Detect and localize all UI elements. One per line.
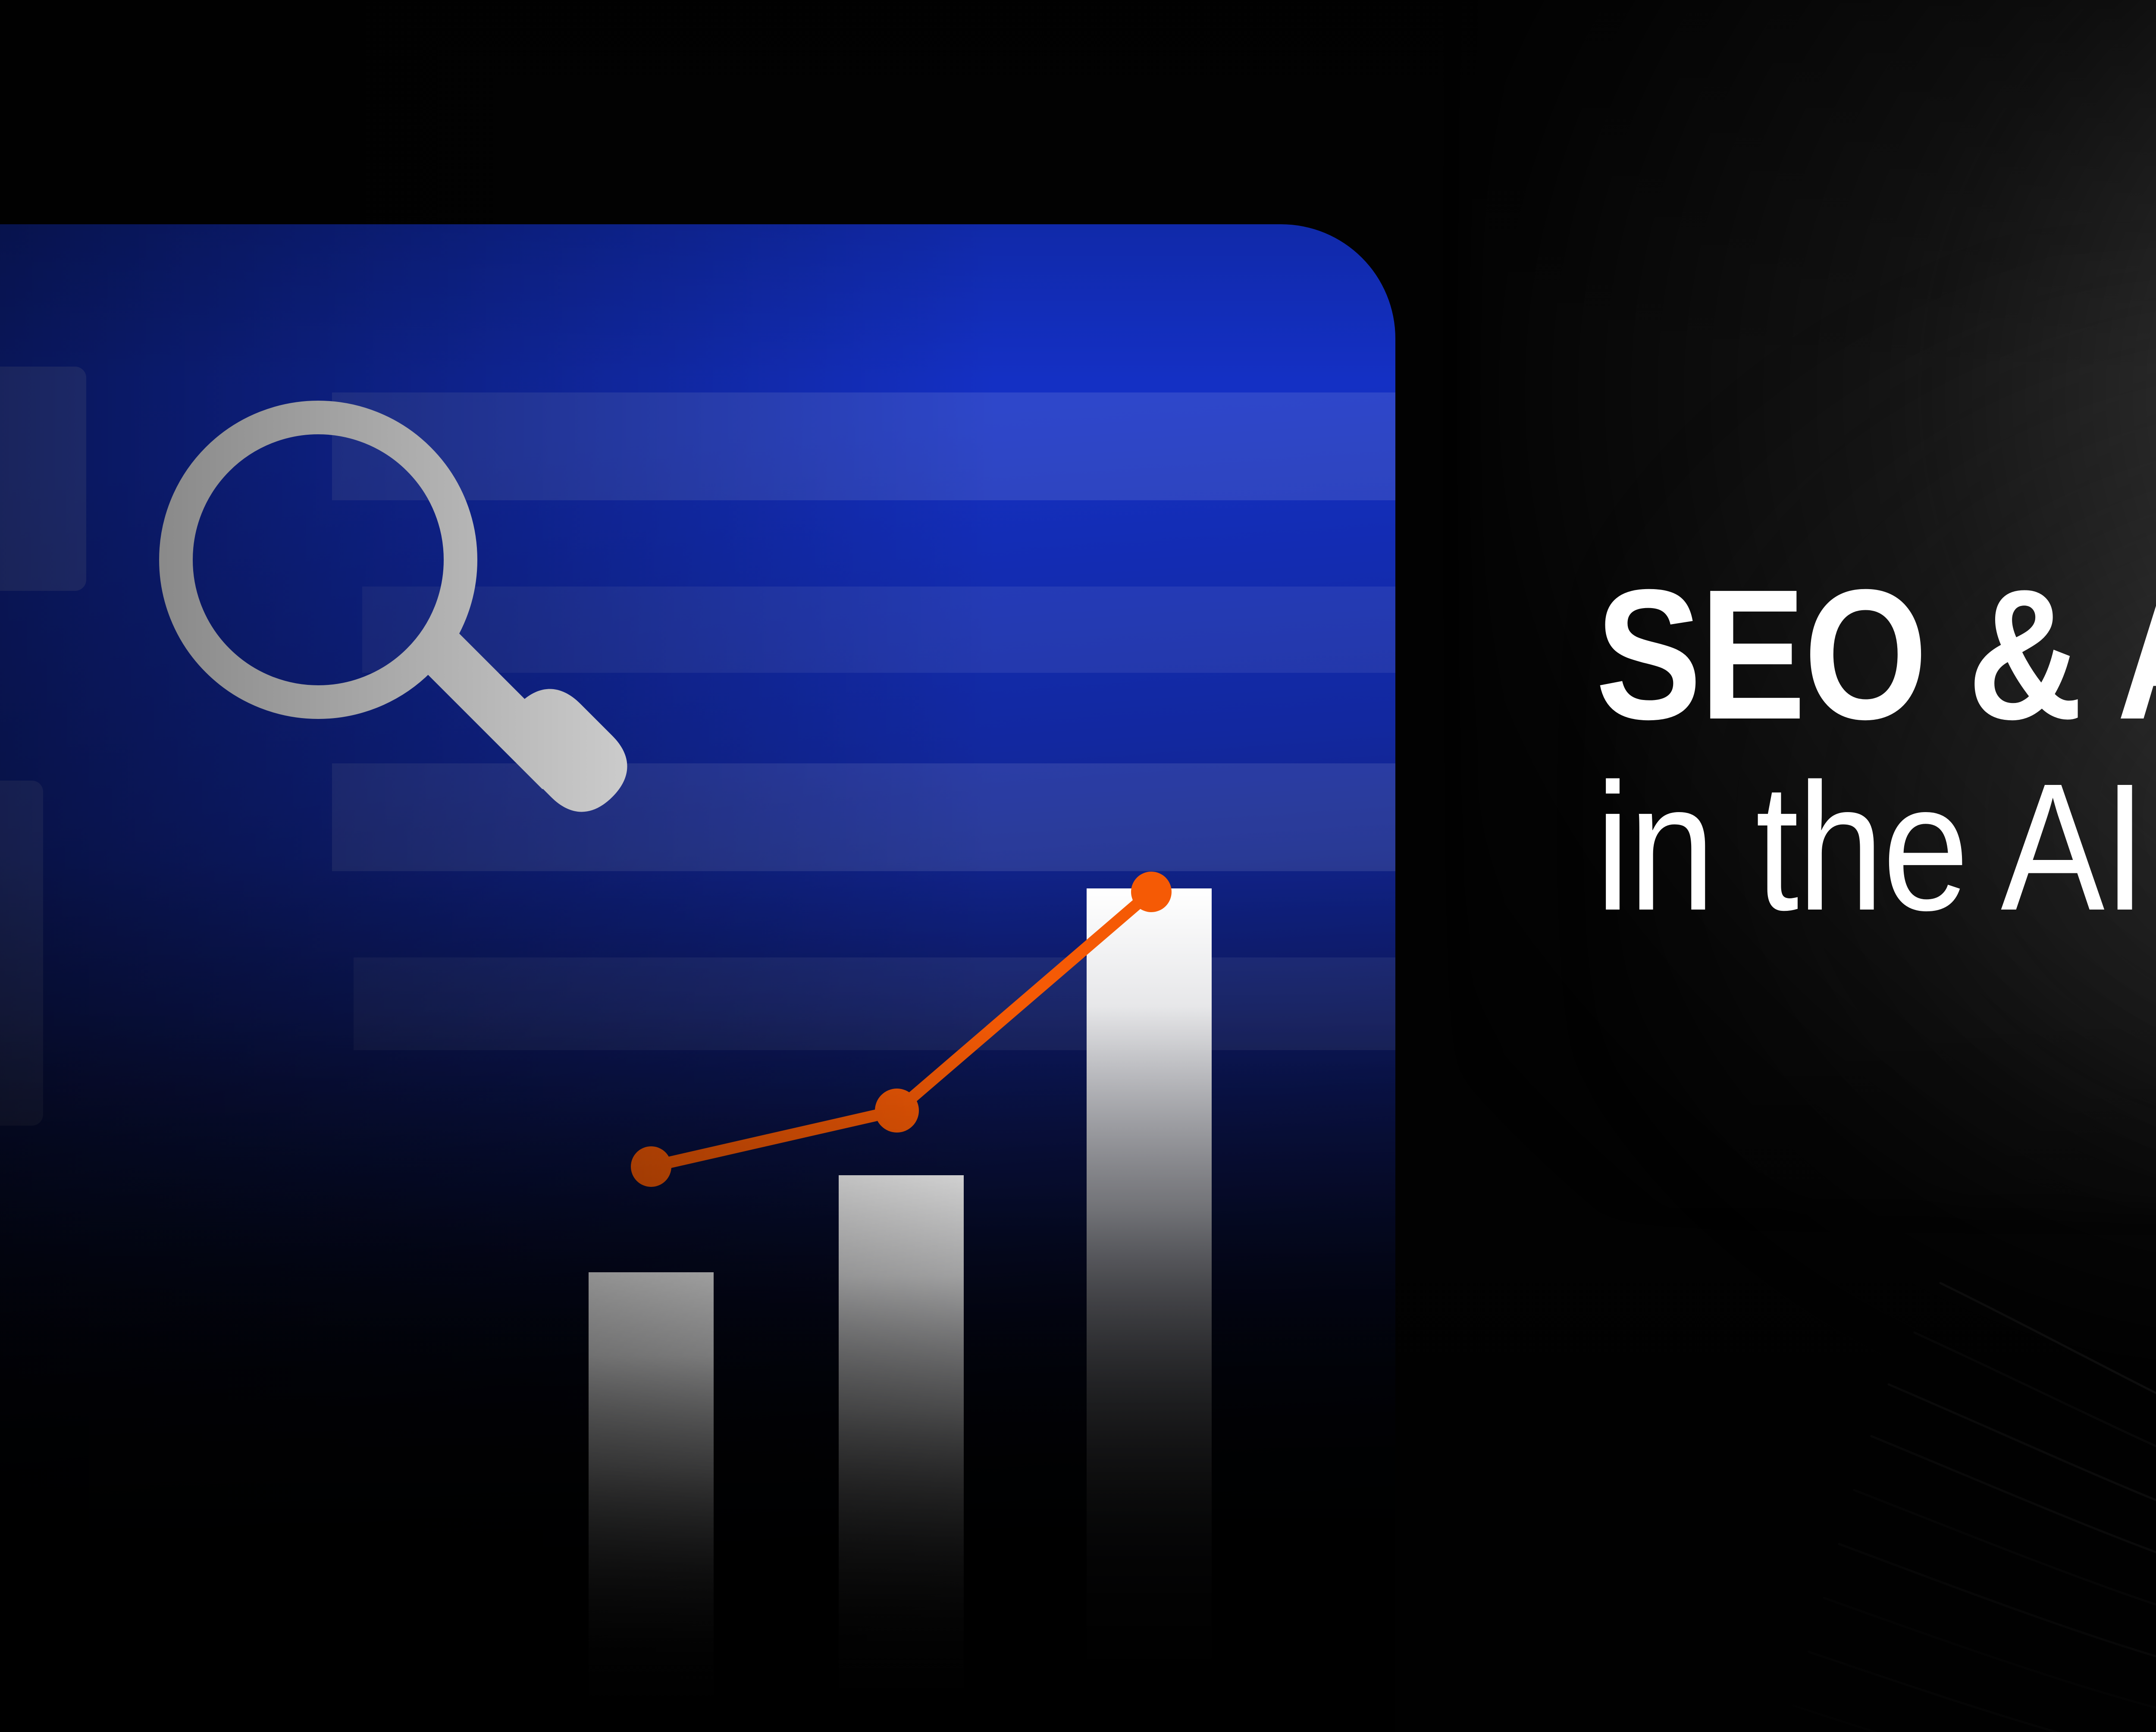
headline-line-1: SEO & AIO [1595, 565, 2156, 745]
chart-bars [589, 888, 1212, 1732]
chart-trend-point-1 [631, 1146, 671, 1187]
chart-bar-3 [1087, 888, 1212, 1732]
chart-bar-2 [839, 1175, 964, 1732]
hero-banner: SEO & AIO in the AI Era [0, 0, 2156, 1732]
magnifying-glass-icon [142, 380, 651, 837]
headline-line-2: in the AI Era [1595, 757, 2156, 938]
headline: SEO & AIO in the AI Era [1595, 565, 2156, 938]
chart-bar-1 [589, 1272, 714, 1732]
bar-chart-with-trend [496, 798, 1380, 1732]
chart-trend-point-2 [875, 1089, 919, 1133]
chart-trend-point-3 [1131, 872, 1172, 912]
